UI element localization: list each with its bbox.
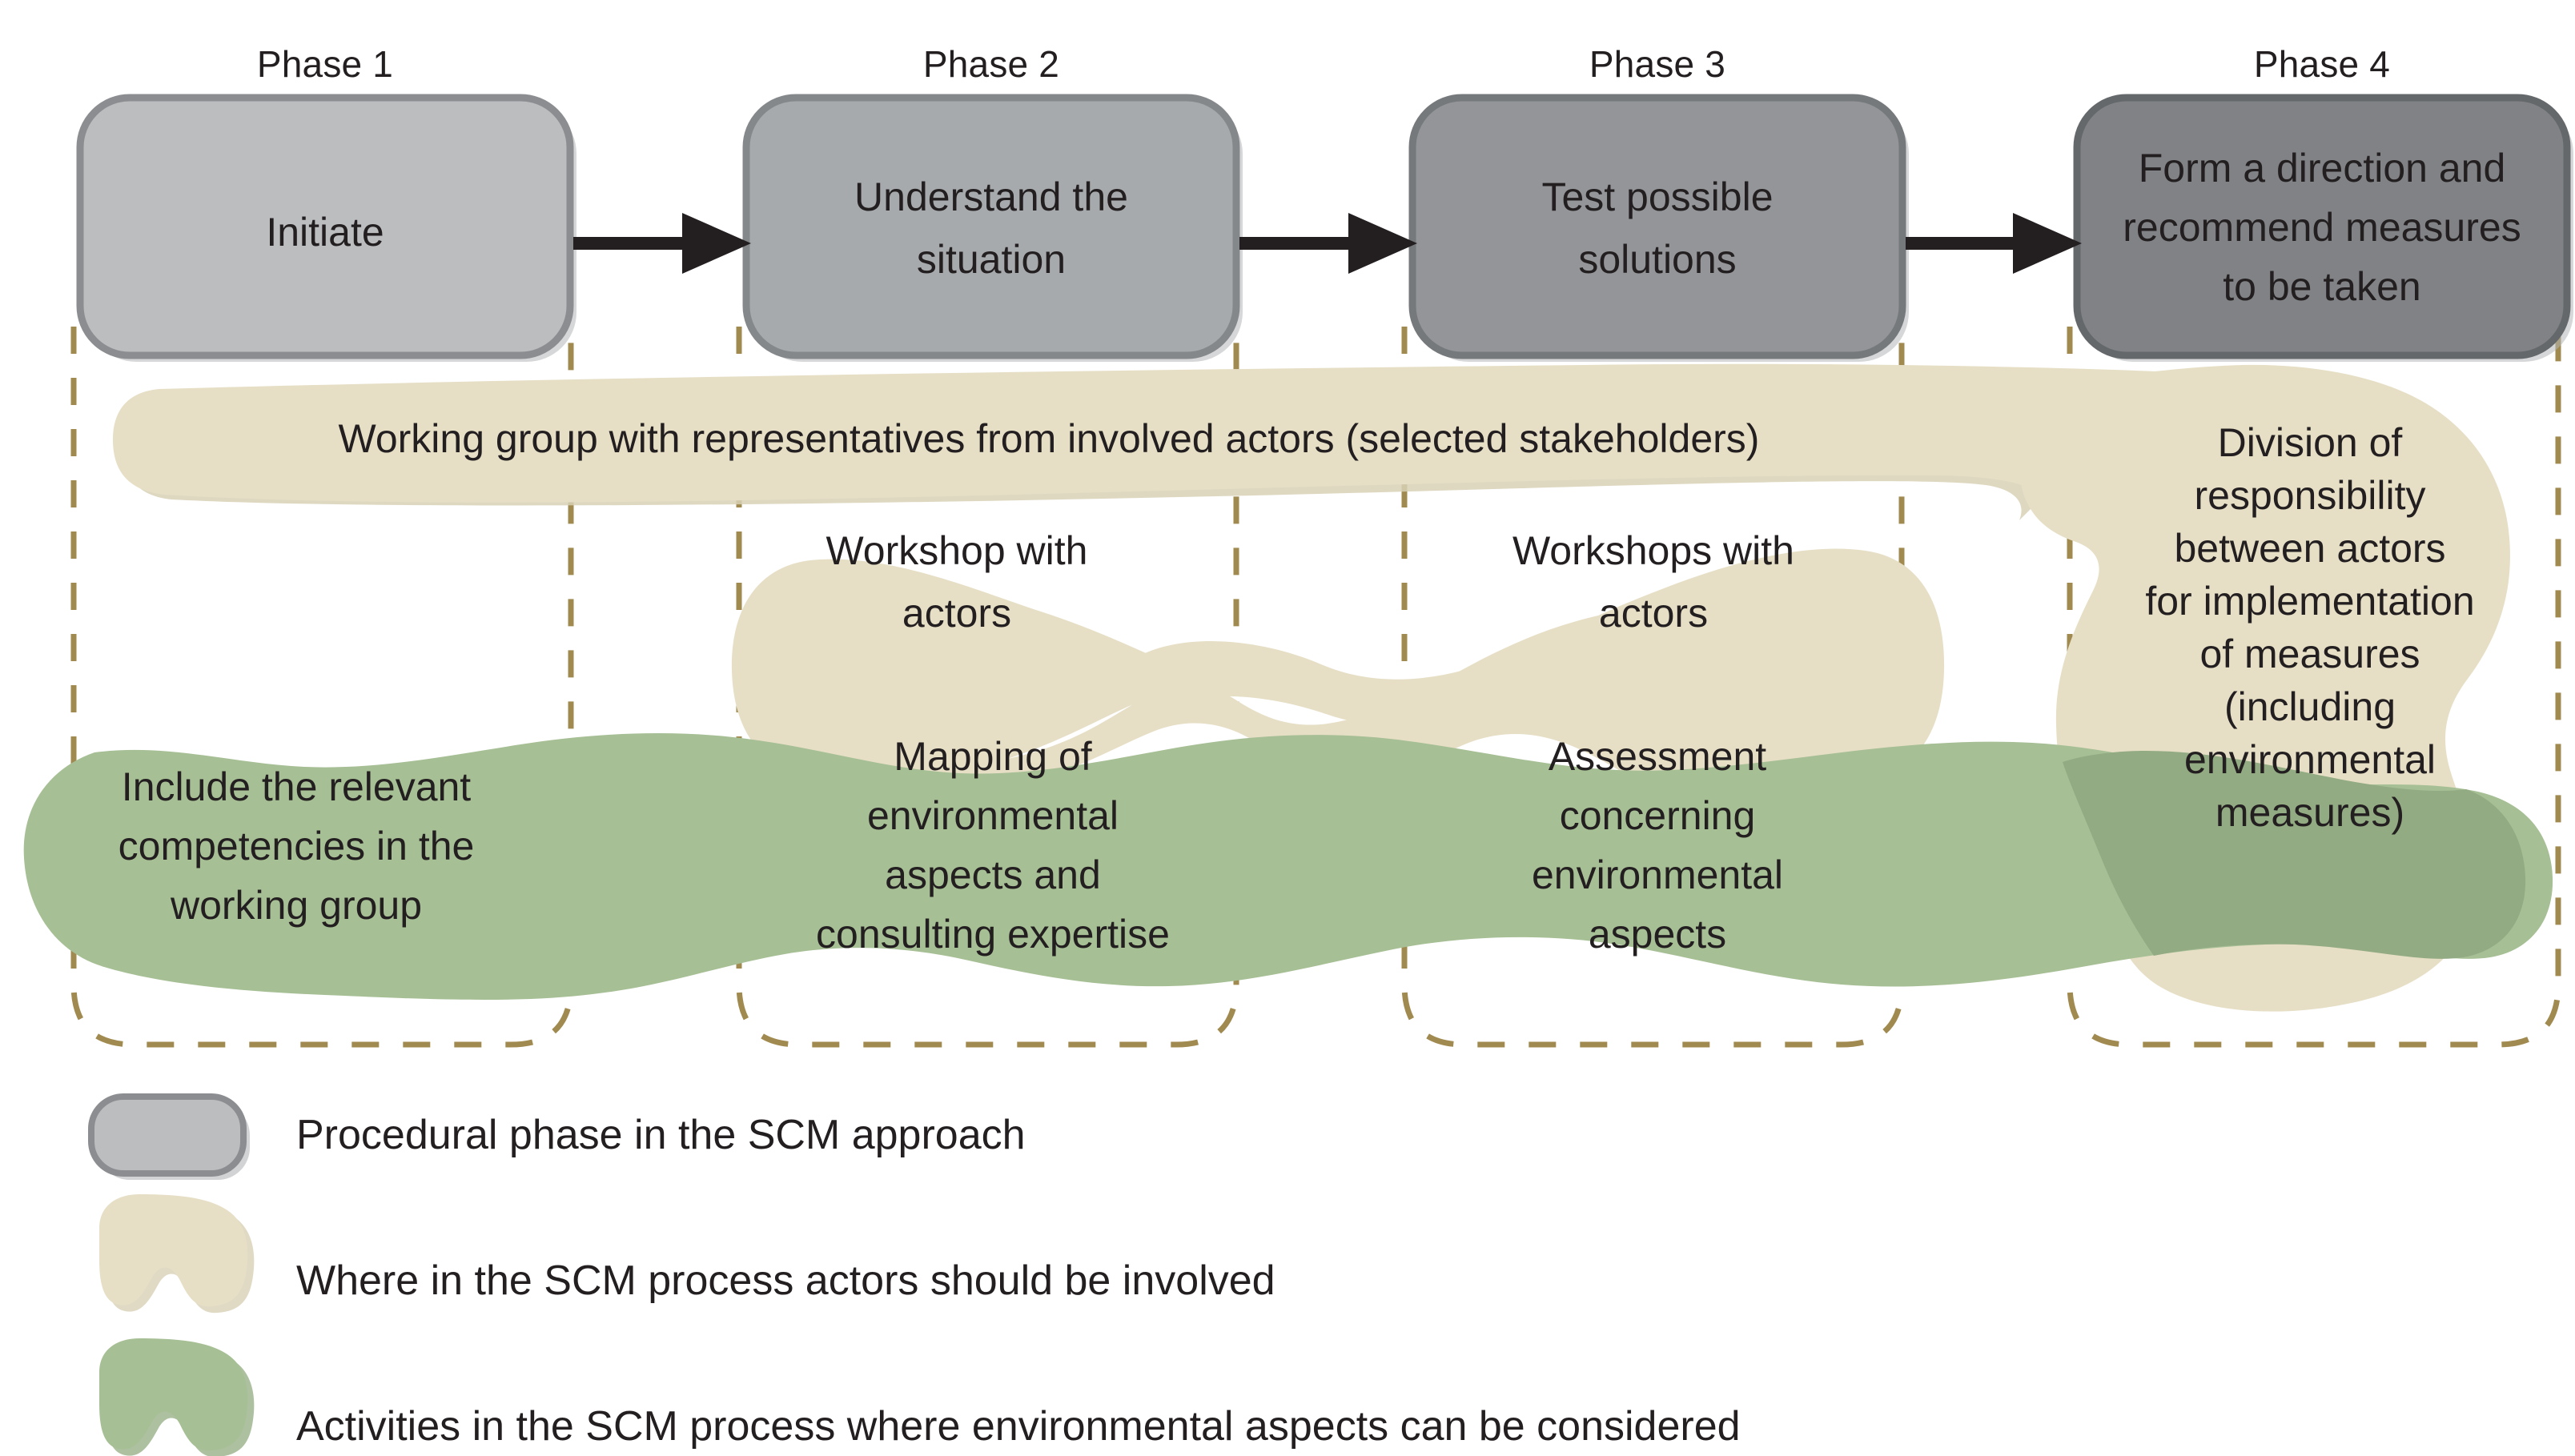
legend-label-actors: Where in the SCM process actors should b… <box>296 1257 1275 1305</box>
scm-phase-diagram: Phase 1 Phase 2 Phase 3 Phase 4 Initiate… <box>0 0 2575 1456</box>
legend-label-environment: Activities in the SCM process where envi… <box>296 1402 1741 1450</box>
legend-swatch-environment-blob <box>99 1338 247 1450</box>
legend-swatch-phase-box <box>91 1097 243 1173</box>
legend-label-phase: Procedural phase in the SCM approach <box>296 1111 1026 1159</box>
legend-swatches-layer <box>0 0 2575 1456</box>
legend-swatch-actor-blob <box>99 1194 247 1306</box>
